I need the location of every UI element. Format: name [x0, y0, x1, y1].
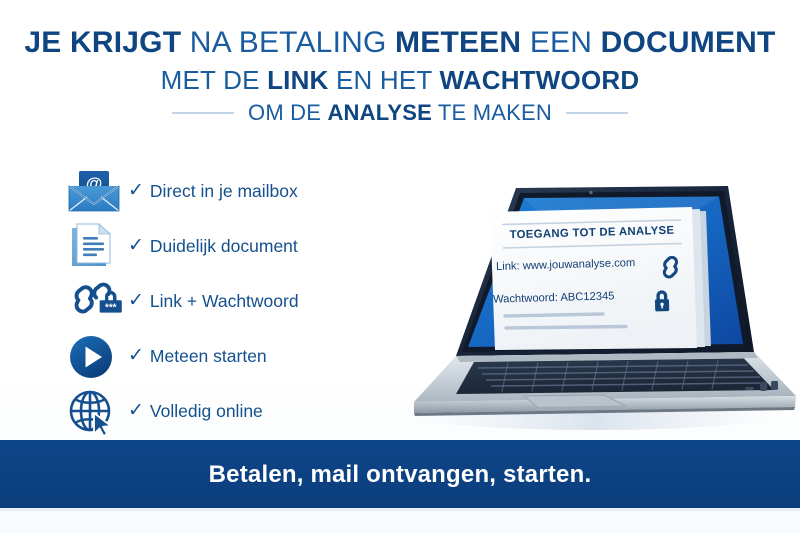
feature-text: Volledig online: [150, 401, 263, 422]
headline-word: ANALYSE: [327, 100, 432, 125]
headline-word: EN HET: [336, 65, 432, 95]
check-icon: ✓: [128, 181, 144, 200]
play-button-icon: [66, 332, 128, 382]
feature-item: *** ✓ Link + Wachtwoord: [66, 274, 366, 329]
svg-text:***: ***: [105, 302, 117, 313]
promo-poster: JE KRIJGT NA BETALING METEEN EEN DOCUMEN…: [0, 0, 800, 533]
check-icon: ✓: [128, 401, 144, 420]
banner-text: Betalen, mail ontvangen, starten.: [209, 461, 592, 489]
headline-word: OM DE: [248, 100, 321, 125]
headline-word: JE KRIJGT: [24, 26, 181, 59]
feature-label: ✓ Volledig online: [128, 401, 263, 422]
document-icon: [66, 222, 128, 272]
link-lock-icon: ***: [66, 277, 128, 327]
bottom-banner: Betalen, mail ontvangen, starten.: [0, 440, 800, 510]
headline-word: LINK: [267, 65, 328, 95]
headline-word: DOCUMENT: [601, 26, 776, 59]
headline-line-2: MET DE LINK EN HET WACHTWOORD: [0, 67, 800, 93]
feature-list: @ ✓ Direct in je mailbox: [66, 164, 366, 439]
feature-text: Direct in je mailbox: [150, 181, 298, 202]
feature-item: ✓ Volledig online: [66, 384, 366, 439]
headline-word: METEEN: [395, 26, 521, 59]
divider-right: [566, 112, 628, 114]
feature-text: Link + Wachtwoord: [150, 291, 299, 312]
feature-label: ✓ Link + Wachtwoord: [128, 291, 299, 312]
check-icon: ✓: [128, 236, 144, 255]
feature-label: ✓ Meteen starten: [128, 346, 267, 367]
headline-line-3: OM DE ANALYSE TE MAKEN: [0, 102, 800, 124]
feature-label: ✓ Duidelijk document: [128, 236, 298, 257]
headline-word: NA BETALING: [190, 26, 387, 59]
laptop-illustration: TOEGANG TOT DE ANALYSE Link: www.jouwana…: [398, 176, 798, 438]
headline: JE KRIJGT NA BETALING METEEN EEN DOCUMEN…: [0, 28, 800, 124]
headline-word: EEN: [530, 26, 592, 59]
feature-text: Duidelijk document: [150, 236, 298, 257]
banner-bottom-edge: [0, 508, 800, 511]
headline-word: WACHTWOORD: [439, 65, 639, 95]
envelope-at-icon: @: [66, 167, 128, 217]
headline-line-3-words: OM DE ANALYSE TE MAKEN: [248, 102, 552, 124]
check-icon: ✓: [128, 346, 144, 365]
divider-left: [172, 112, 234, 114]
headline-word: MET DE: [161, 65, 260, 95]
feature-label: ✓ Direct in je mailbox: [128, 181, 298, 202]
feature-text: Meteen starten: [150, 346, 267, 367]
globe-cursor-icon: [66, 387, 128, 437]
headline-word: TE MAKEN: [438, 100, 552, 125]
check-icon: ✓: [128, 291, 144, 310]
feature-item: ✓ Meteen starten: [66, 329, 366, 384]
feature-item: ✓ Duidelijk document: [66, 219, 366, 274]
headline-line-1: JE KRIJGT NA BETALING METEEN EEN DOCUMEN…: [0, 28, 800, 58]
feature-item: @ ✓ Direct in je mailbox: [66, 164, 366, 219]
